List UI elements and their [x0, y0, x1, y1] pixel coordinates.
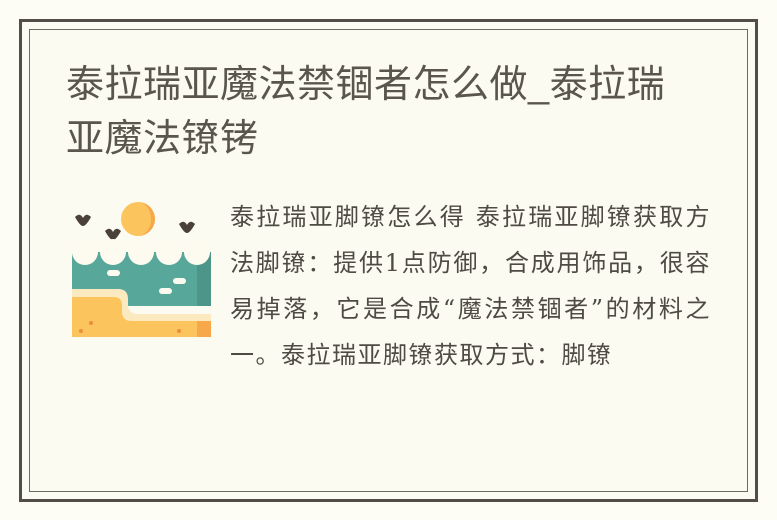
article-card-inner-frame: 泰拉瑞亚魔法禁锢者怎么做_泰拉瑞亚魔法镣铐	[29, 29, 748, 492]
beach-illustration-icon	[66, 194, 217, 337]
foam-shape	[72, 239, 211, 265]
sand-shadow	[197, 321, 211, 337]
article-thumbnail[interactable]	[66, 194, 217, 337]
page-title: 泰拉瑞亚魔法禁锢者怎么做_泰拉瑞亚魔法镣铐	[66, 58, 666, 166]
article-content: 泰拉瑞亚魔法禁锢者怎么做_泰拉瑞亚魔法镣铐	[30, 30, 747, 491]
sun-icon	[121, 202, 155, 236]
article-excerpt: 泰拉瑞亚脚镣怎么得 泰拉瑞亚脚镣获取方法脚镣：提供1点防御，合成用饰品，很容易掉…	[230, 194, 711, 378]
article-card-outer-frame: 泰拉瑞亚魔法禁锢者怎么做_泰拉瑞亚魔法镣铐	[19, 19, 758, 502]
article-body-row: 泰拉瑞亚脚镣怎么得 泰拉瑞亚脚镣获取方法脚镣：提供1点防御，合成用饰品，很容易掉…	[66, 194, 711, 378]
